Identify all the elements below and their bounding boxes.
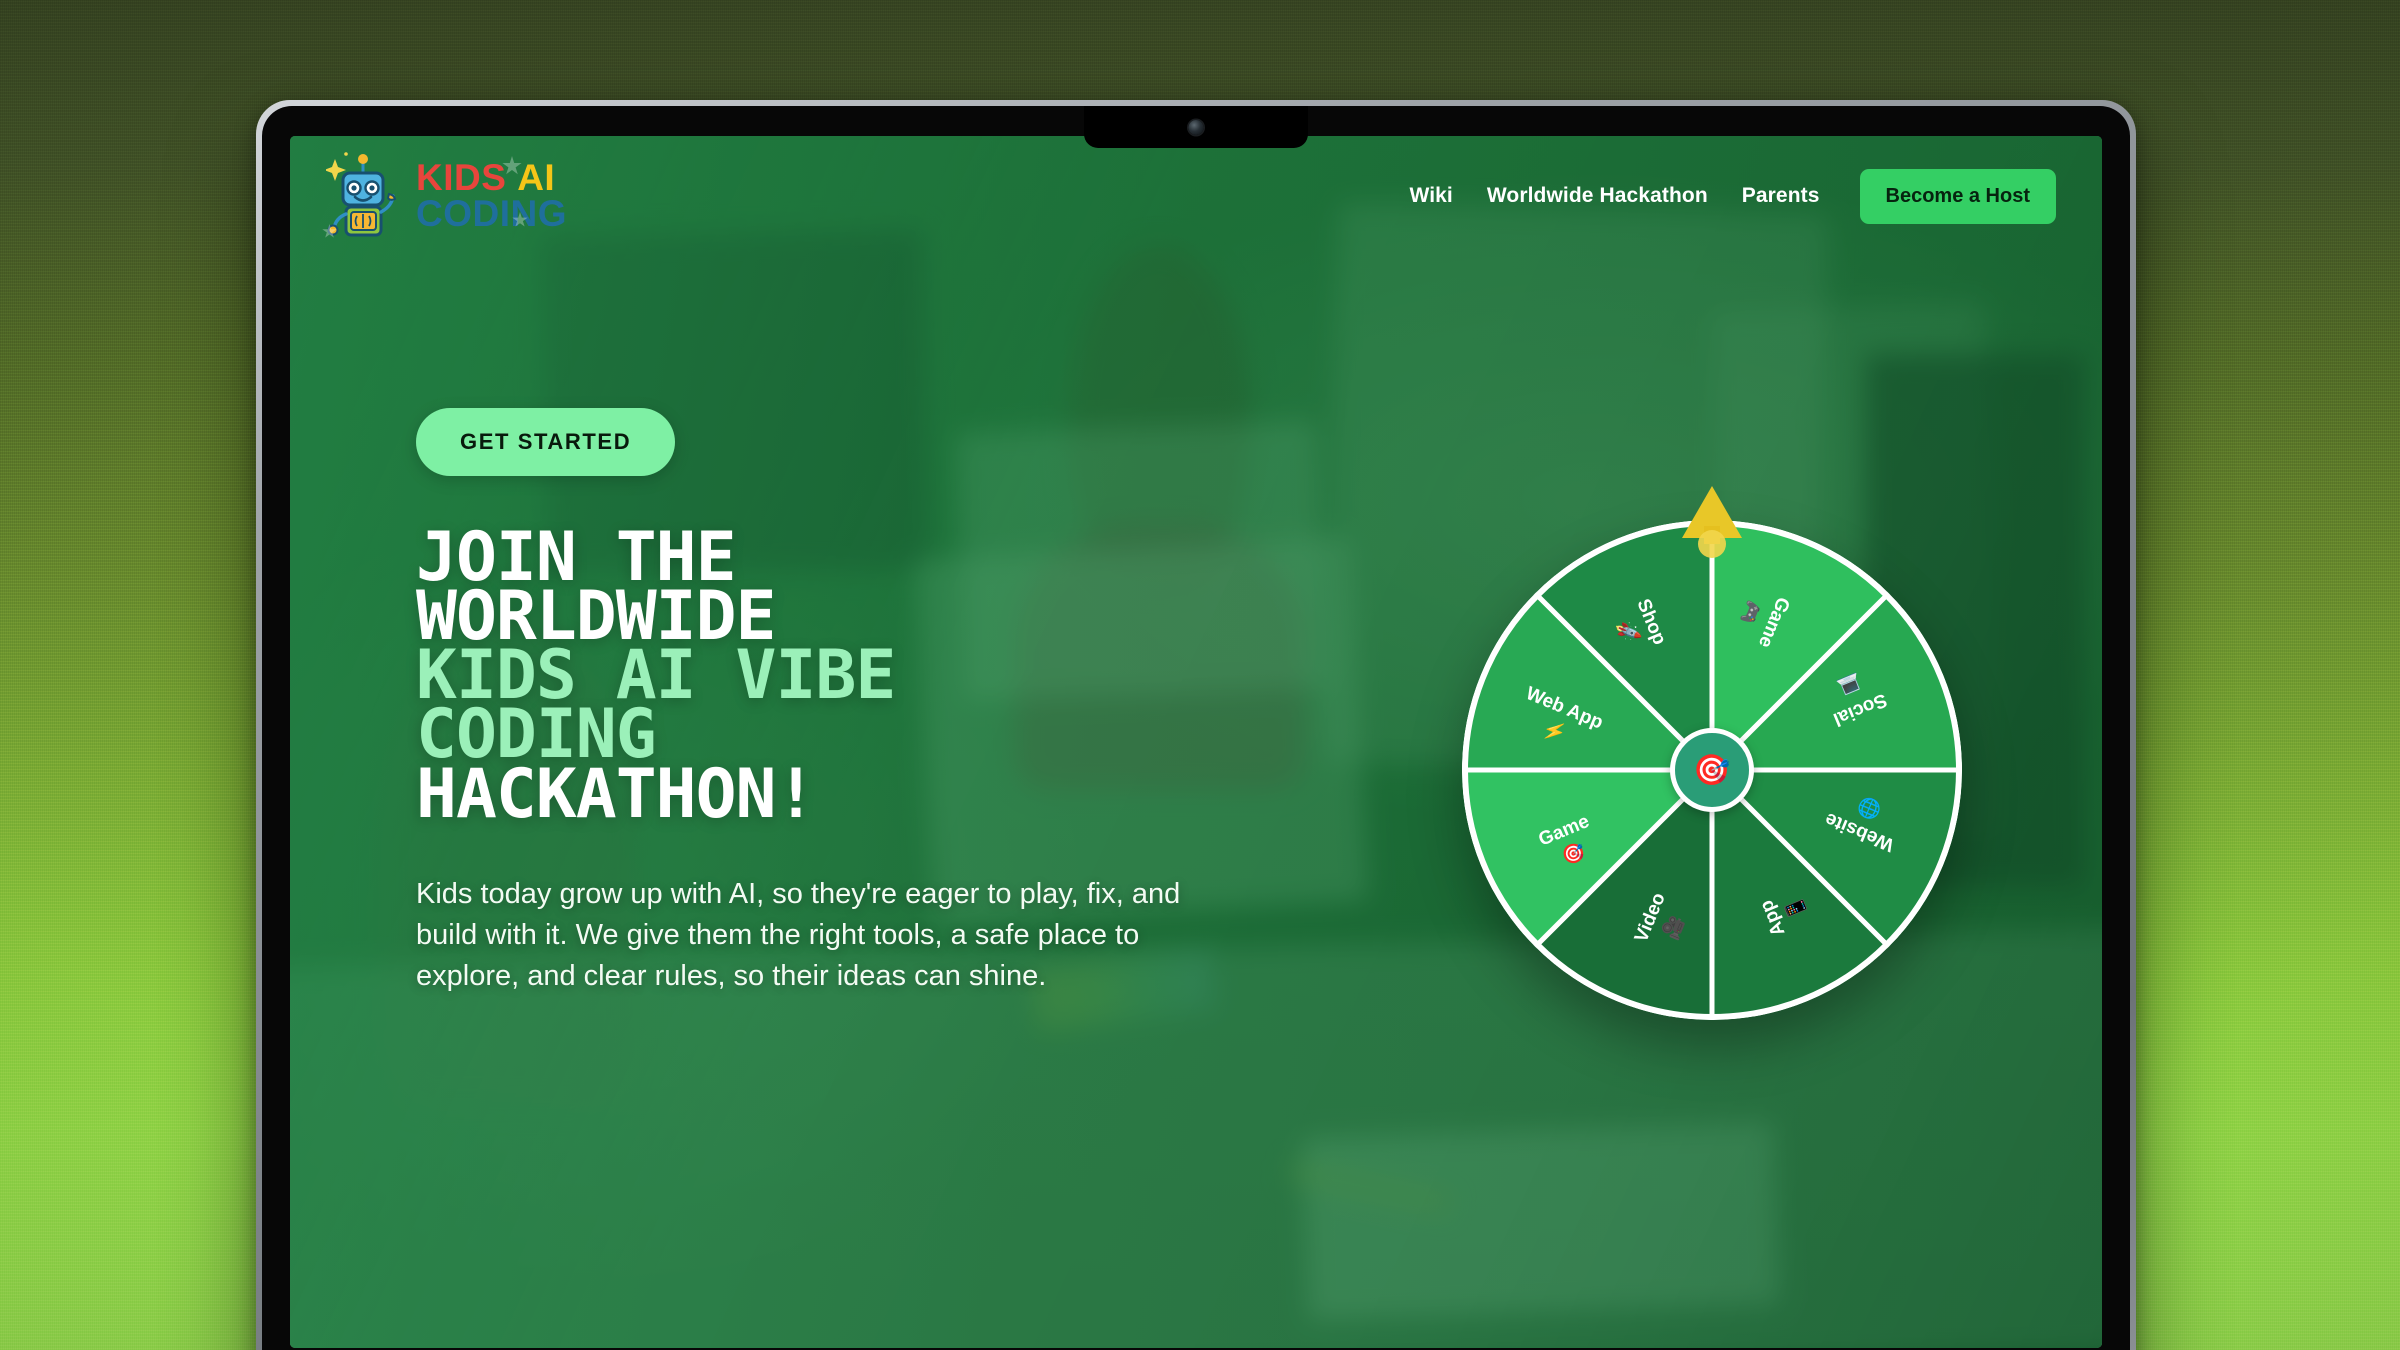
headline-line-5: HACKATHON! [416, 765, 1296, 824]
nav-link-wiki[interactable]: Wiki [1409, 184, 1452, 208]
brand-logo[interactable]: KIDS AI CODING [326, 150, 567, 242]
become-a-host-button[interactable]: Become a Host [1860, 169, 2057, 224]
screenshot-root: KIDS AI CODING Wiki Worldwide Hackathon … [0, 0, 2400, 1350]
brand-coding-text: CODING [416, 193, 567, 234]
get-started-button[interactable]: GET STARTED [416, 408, 675, 476]
webcam-icon [1189, 120, 1204, 135]
hero-paragraph: Kids today grow up with AI, so they're e… [416, 874, 1216, 998]
nav-link-parents[interactable]: Parents [1742, 184, 1820, 208]
spin-wheel-hub[interactable]: 🎯 [1670, 728, 1754, 812]
main-navigation: Wiki Worldwide Hackathon Parents Become … [1409, 169, 2056, 224]
nav-link-worldwide-hackathon[interactable]: Worldwide Hackathon [1487, 184, 1708, 208]
laptop-mockup: KIDS AI CODING Wiki Worldwide Hackathon … [256, 100, 2136, 1350]
site-header: KIDS AI CODING Wiki Worldwide Hackathon … [290, 136, 2102, 256]
robot-mascot-icon [326, 150, 400, 242]
brand-wordmark: KIDS AI CODING [416, 160, 567, 231]
hero-section: GET STARTED JOIN THE WORLDWIDE KIDS AI V… [416, 408, 1296, 1026]
spin-wheel-widget[interactable]: Game🎮Social💻Website🌐App📱Video🎥Game🎯Web A… [1452, 476, 1972, 1036]
browser-viewport: KIDS AI CODING Wiki Worldwide Hackathon … [290, 136, 2102, 1348]
target-icon: 🎯 [1693, 753, 1730, 788]
hero-headline: JOIN THE WORLDWIDE KIDS AI VIBE CODING H… [416, 528, 1296, 824]
triangle-pointer-icon [1678, 482, 1746, 558]
